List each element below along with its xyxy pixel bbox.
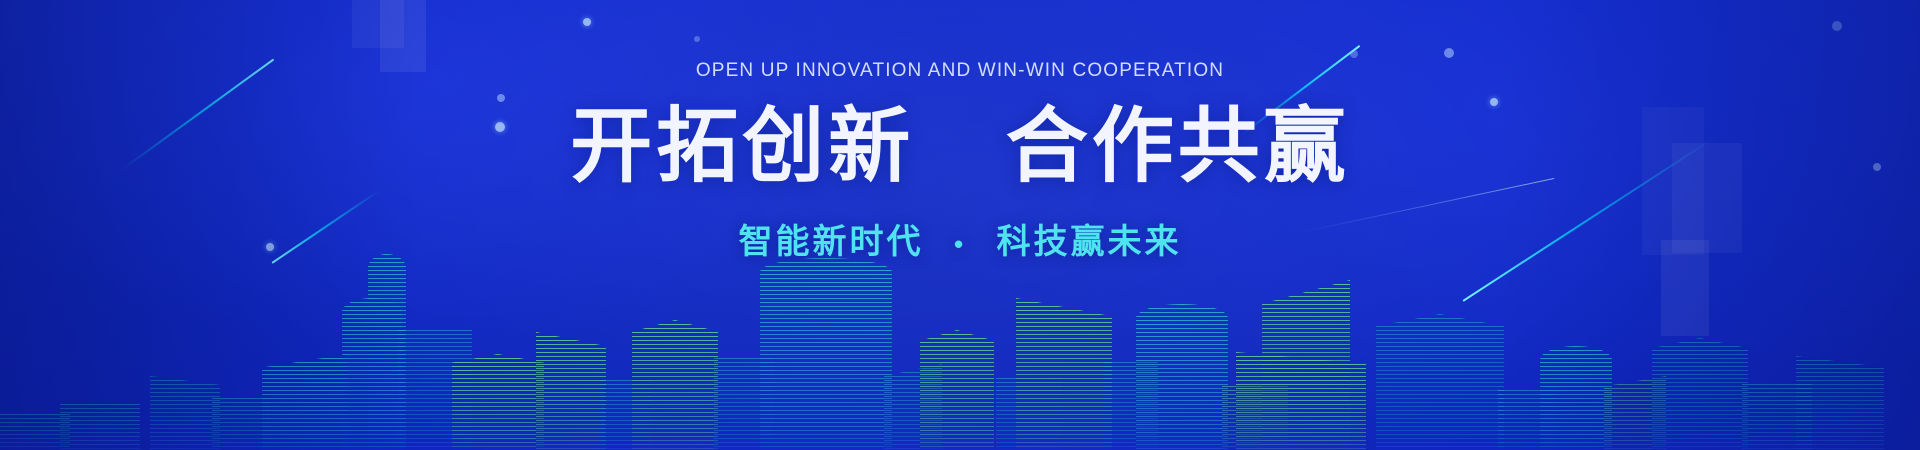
- banner-eyebrow-text: OPEN UP INNOVATION AND WIN-WIN COOPERATI…: [0, 60, 1920, 82]
- headline-part-right: 合作共赢: [1006, 101, 1350, 192]
- banner-subtitle: 智能新时代 • 科技赢未来: [0, 214, 1920, 263]
- subtitle-part-left: 智能新时代: [738, 223, 923, 261]
- banner-content: OPEN UP INNOVATION AND WIN-WIN COOPERATI…: [0, 0, 1920, 263]
- hero-banner: OPEN UP INNOVATION AND WIN-WIN COOPERATI…: [0, 0, 1920, 450]
- headline-part-left: 开拓创新: [570, 101, 914, 192]
- banner-headline: 开拓创新 合作共赢: [0, 104, 1920, 190]
- subtitle-separator-dot: •: [954, 229, 966, 260]
- subtitle-part-right: 科技赢未来: [997, 223, 1182, 261]
